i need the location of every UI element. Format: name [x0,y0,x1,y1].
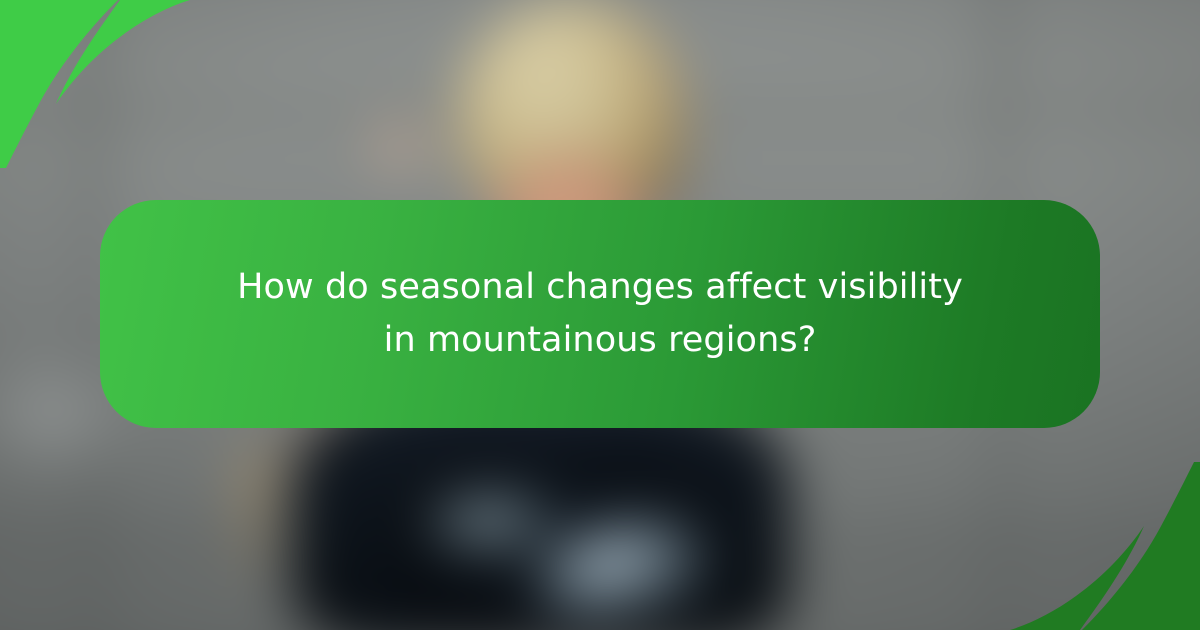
question-text: How do seasonal changes affect visibilit… [230,261,970,367]
question-card[interactable]: How do seasonal changes affect visibilit… [100,200,1100,428]
share-card-canvas: How do seasonal changes affect visibilit… [0,0,1200,630]
